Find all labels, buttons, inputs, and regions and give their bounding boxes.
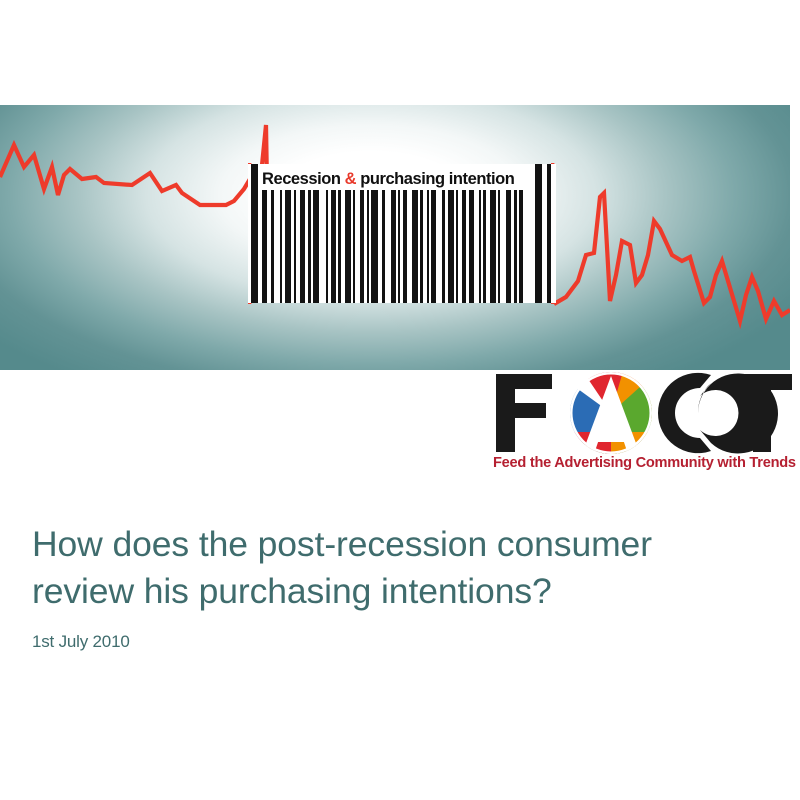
- barcode-label: Recession & purchasing intention: [262, 168, 542, 191]
- barcode-label-ampersand: &: [345, 170, 356, 188]
- fact-wordmark: [492, 370, 792, 456]
- fact-logo: Feed the Advertising Community with Tren…: [492, 370, 792, 482]
- fact-letter-f: [496, 374, 552, 452]
- barcode-label-suffix: purchasing intention: [356, 170, 514, 188]
- fact-tagline: Feed the Advertising Community with Tren…: [493, 455, 793, 471]
- presentation-date: 1st July 2010: [32, 632, 762, 652]
- barcode-graphic: Recession & purchasing intention: [248, 164, 556, 303]
- barcode-guard-bar-left: [251, 164, 258, 303]
- barcode-guard-bar-right-outer: [547, 164, 551, 303]
- trend-line-right: [554, 193, 790, 321]
- title-block: How does the post-recession consumer rev…: [32, 521, 762, 652]
- fact-circle-a-mark: [554, 370, 669, 456]
- page-title: How does the post-recession consumer rev…: [32, 521, 762, 615]
- trend-line-left: [0, 125, 268, 244]
- barcode-bars: [262, 190, 532, 303]
- barcode-label-prefix: Recession: [262, 170, 345, 188]
